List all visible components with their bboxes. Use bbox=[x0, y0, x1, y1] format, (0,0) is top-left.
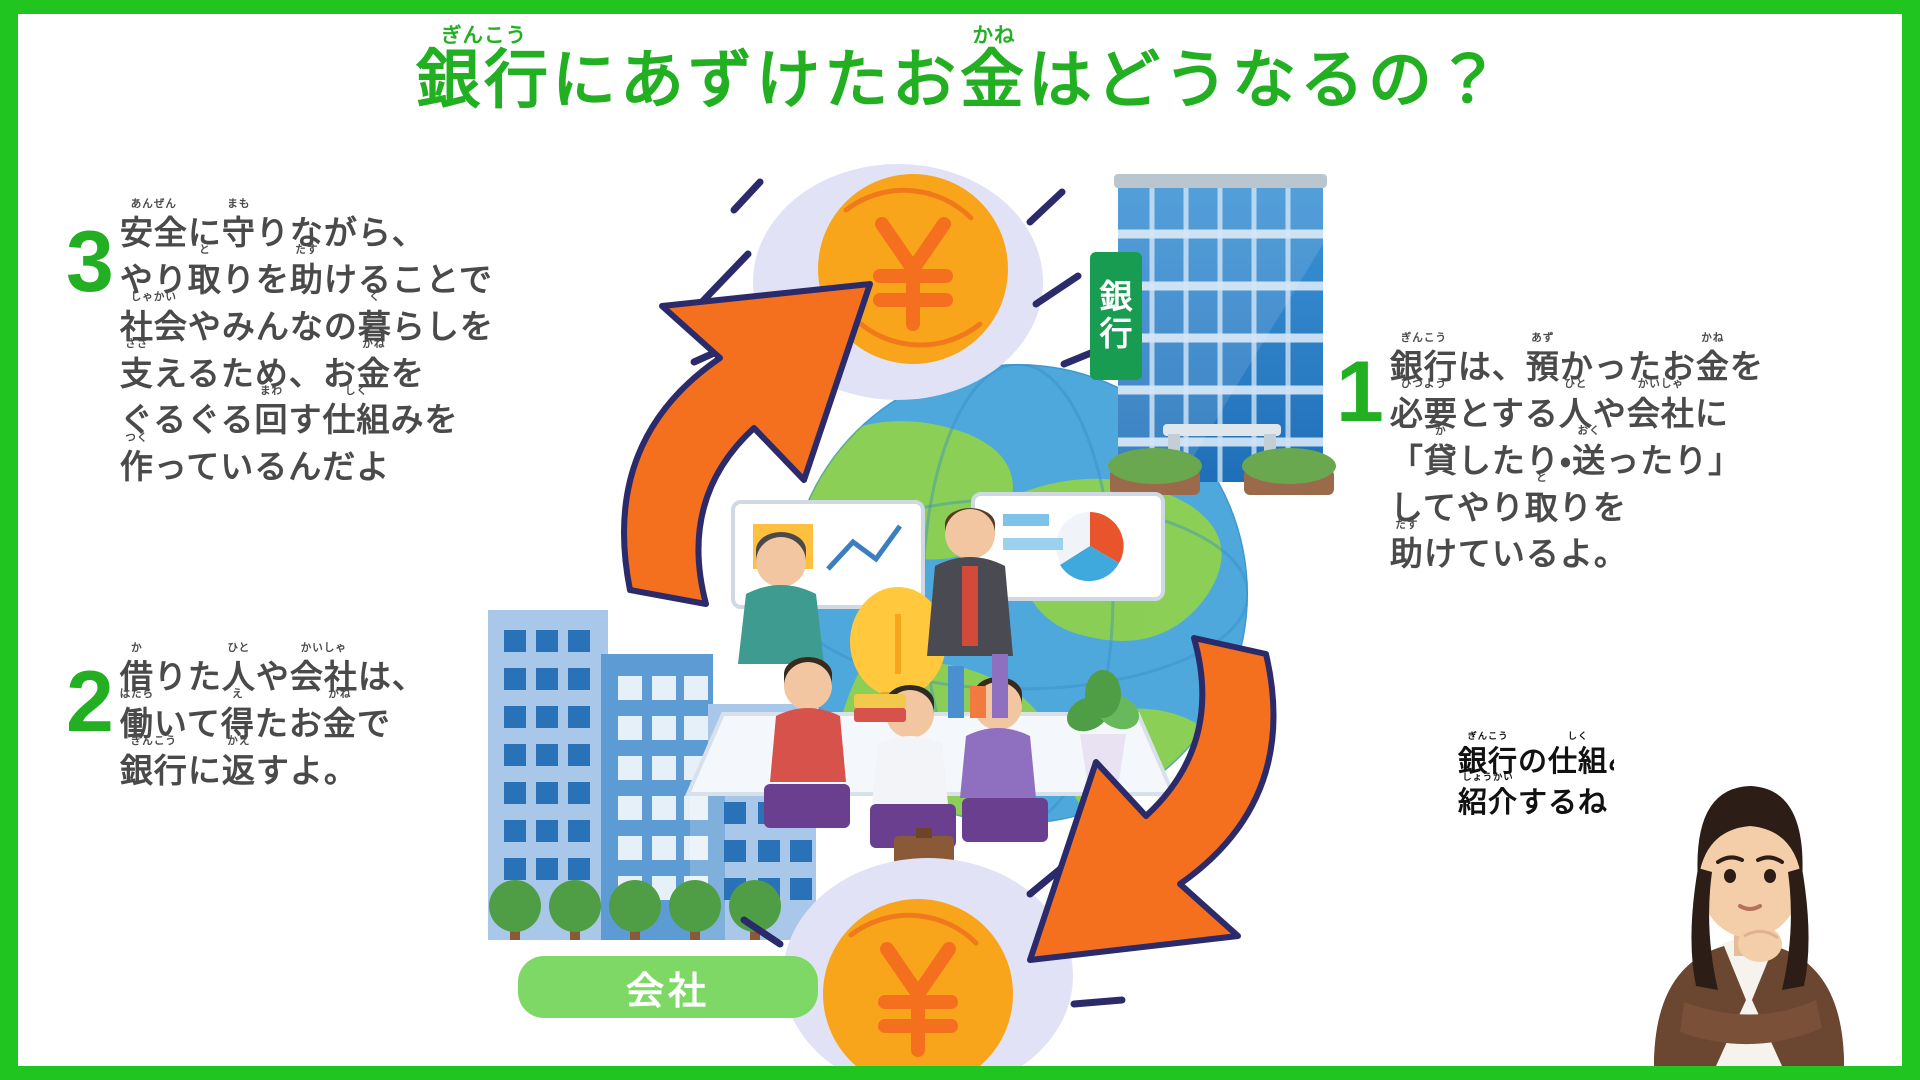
step-block-2: 2 か借りたひと人やかいしゃ会社は、はたら働いてえ得たおかね金でぎんこう銀行にか… bbox=[66, 654, 426, 795]
globe-illustration bbox=[788, 364, 1248, 845]
plain-segment: を bbox=[1730, 344, 1764, 391]
ruby-segment: かね金 bbox=[1696, 344, 1730, 391]
plain-segment: の bbox=[1518, 742, 1548, 783]
furigana: ぎんこう bbox=[1467, 732, 1508, 741]
plain-segment: りた bbox=[154, 654, 222, 701]
furigana: しく bbox=[345, 386, 368, 397]
furigana: かいしゃ bbox=[301, 643, 347, 654]
title-ruby-bank: ぎんこう銀行 bbox=[416, 48, 552, 112]
slide-root: ぎんこう銀行 にあずけたお かね金 はどうなるの？ 3 あんぜん安全にまも守りな… bbox=[0, 0, 1920, 1080]
furigana: あず bbox=[1531, 333, 1554, 344]
ruby-segment: つく作 bbox=[120, 444, 154, 491]
ruby-segment: たす助 bbox=[290, 257, 324, 304]
bank-sign-char-1: 銀 bbox=[1100, 279, 1133, 316]
ruby-segment: たす助 bbox=[1390, 531, 1424, 578]
plain-segment: りながら、 bbox=[256, 210, 426, 257]
furigana: かね bbox=[328, 689, 351, 700]
plain-segment: したり・ bbox=[1458, 438, 1572, 485]
step-text-2: か借りたひと人やかいしゃ会社は、はたら働いてえ得たおかね金でぎんこう銀行にかえ返… bbox=[120, 654, 426, 795]
furigana: ささ bbox=[125, 339, 148, 350]
title-ruby-bank-base: 銀行 bbox=[416, 44, 552, 116]
person-right-standing bbox=[927, 508, 1013, 656]
plain-segment: す bbox=[289, 397, 323, 444]
step-block-1: 1 ぎんこう銀行は、あず預かったおかね金をひつよう必要とするひと人やかいしゃ会社… bbox=[1336, 344, 1764, 578]
plain-segment: えるため、お bbox=[154, 351, 357, 398]
bank-building-illustration bbox=[1108, 174, 1336, 495]
coin-top-illustration bbox=[694, 164, 1108, 400]
title-ruby-bank-reading: ぎんこう bbox=[441, 26, 527, 46]
furigana: か bbox=[131, 643, 143, 654]
plain-segment: で bbox=[357, 701, 391, 748]
plain-segment: っているんだよ bbox=[154, 444, 390, 491]
step-text-3: あんぜん安全にまも守りながら、やりと取りをたす助けることでしゃかい社会やみんなの… bbox=[120, 210, 494, 491]
text-line-4: ささ支えるため、おかね金を bbox=[120, 351, 494, 398]
furigana: しょうかい bbox=[1462, 773, 1513, 782]
ruby-segment: かえ返 bbox=[222, 748, 256, 795]
text-line-3: しゃかい社会やみんなのく暮らしを bbox=[120, 304, 494, 351]
step-number-3: 3 bbox=[66, 224, 114, 301]
company-label-text: 会社 bbox=[626, 960, 710, 1015]
furigana: おく bbox=[1578, 426, 1601, 437]
step-number-2: 2 bbox=[66, 664, 114, 741]
text-line-6: つく作っているんだよ bbox=[120, 444, 494, 491]
furigana: つく bbox=[125, 433, 148, 444]
plain-segment: りを bbox=[222, 257, 290, 304]
ruby-segment: あず預 bbox=[1526, 344, 1560, 391]
lightbulb-icon bbox=[850, 587, 946, 722]
step-number-1: 1 bbox=[1336, 354, 1384, 431]
plain-segment: は、 bbox=[1458, 344, 1526, 391]
furigana: あんぜん bbox=[131, 199, 177, 210]
plain-segment: りを bbox=[1559, 485, 1627, 532]
business-meeting-illustration bbox=[688, 494, 1173, 882]
furigana: まも bbox=[227, 199, 250, 210]
ruby-segment: あんぜん安全 bbox=[120, 210, 188, 257]
furigana: か bbox=[1435, 426, 1447, 437]
furigana: しゃかい bbox=[131, 292, 177, 303]
title-ruby-money-reading: かね bbox=[973, 26, 1016, 46]
ruby-segment: ひつよう必要 bbox=[1390, 391, 1458, 438]
furigana: ぎんこう bbox=[131, 736, 177, 747]
text-line-5: ぐるぐるまわ回すしく仕組みを bbox=[120, 397, 494, 444]
bank-sign-label: 銀 行 bbox=[1090, 252, 1142, 380]
text-line-3: ぎんこう銀行にかえ返すよ。 bbox=[120, 748, 426, 795]
furigana: く bbox=[369, 292, 381, 303]
furigana: え bbox=[232, 689, 244, 700]
title-ruby-money-base: 金 bbox=[960, 44, 1028, 116]
ruby-segment: ぎんこう銀行 bbox=[120, 748, 188, 795]
plain-segment: すよ。 bbox=[256, 748, 358, 795]
plain-segment: に bbox=[188, 748, 222, 795]
plain-segment: を bbox=[391, 351, 425, 398]
trees bbox=[489, 880, 781, 940]
furigana: まわ bbox=[260, 386, 283, 397]
furigana: たす bbox=[1395, 520, 1418, 531]
furigana: かね bbox=[362, 339, 385, 350]
person-seated-red bbox=[764, 657, 850, 828]
plain-segment: とする bbox=[1458, 391, 1559, 438]
text-line-5: たす助けているよ。 bbox=[1390, 531, 1764, 578]
plain-segment: けているよ。 bbox=[1424, 531, 1628, 578]
page-title: ぎんこう銀行 にあずけたお かね金 はどうなるの？ bbox=[18, 48, 1902, 112]
plain-segment: けることで bbox=[324, 257, 493, 304]
furigana: かいしゃ bbox=[1638, 379, 1684, 390]
text-line-1: か借りたひと人やかいしゃ会社は、 bbox=[120, 654, 426, 701]
ruby-segment: まわ回 bbox=[255, 397, 289, 444]
furigana: はたら bbox=[120, 689, 154, 700]
title-ruby-money: かね金 bbox=[960, 48, 1028, 112]
plain-segment: みを bbox=[391, 397, 459, 444]
bank-sign-char-2: 行 bbox=[1100, 316, 1133, 353]
furigana: ひつよう bbox=[1401, 379, 1447, 390]
furigana: ぎんこう bbox=[1401, 333, 1447, 344]
furigana: たす bbox=[295, 245, 318, 256]
title-mid: にあずけたお bbox=[552, 44, 960, 116]
furigana: しく bbox=[1568, 732, 1589, 741]
ruby-segment: かね金 bbox=[323, 701, 357, 748]
ruby-segment: かいしゃ会社 bbox=[1627, 391, 1695, 438]
furigana: と bbox=[199, 245, 211, 256]
plain-segment: たお bbox=[255, 701, 323, 748]
person-seated-white bbox=[870, 685, 956, 848]
title-tail: はどうなるの？ bbox=[1028, 44, 1504, 116]
plain-segment: らしを bbox=[392, 304, 494, 351]
text-line-4: してやりと取りを bbox=[1390, 485, 1764, 532]
plain-segment: やみんなの bbox=[188, 304, 358, 351]
ruby-segment: しく仕組 bbox=[323, 397, 391, 444]
ruby-segment: と取 bbox=[1525, 485, 1559, 532]
presenter-photo bbox=[1614, 736, 1884, 1066]
step-block-3: 3 あんぜん安全にまも守りながら、やりと取りをたす助けることでしゃかい社会やみん… bbox=[66, 210, 494, 491]
briefcase-icon bbox=[894, 836, 954, 882]
furigana: と bbox=[1536, 473, 1548, 484]
text-line-3: 「か貸したり・おく送ったり」 bbox=[1390, 438, 1764, 485]
ruby-segment: しく仕組 bbox=[1548, 742, 1608, 783]
person-seated-purple bbox=[960, 677, 1048, 842]
furigana: ひと bbox=[1564, 379, 1587, 390]
ruby-segment: か貸 bbox=[1424, 438, 1458, 485]
ruby-segment: まも守 bbox=[222, 210, 256, 257]
slide-canvas: ぎんこう銀行 にあずけたお かね金 はどうなるの？ 3 あんぜん安全にまも守りな… bbox=[18, 14, 1902, 1066]
furigana: かね bbox=[1701, 333, 1724, 344]
ruby-segment: と取 bbox=[188, 257, 222, 304]
furigana: かえ bbox=[227, 736, 250, 747]
furigana: ひと bbox=[227, 643, 250, 654]
company-buildings-illustration bbox=[488, 610, 816, 940]
person-left bbox=[738, 532, 824, 664]
plain-segment: は、 bbox=[358, 654, 426, 701]
plain-segment: 「 bbox=[1390, 438, 1424, 485]
ruby-segment: ささ支 bbox=[120, 351, 154, 398]
plain-segment: ったり」 bbox=[1606, 438, 1742, 485]
step-text-1: ぎんこう銀行は、あず預かったおかね金をひつよう必要とするひと人やかいしゃ会社に「… bbox=[1390, 344, 1764, 578]
arrow-down-right bbox=[1030, 638, 1274, 960]
plain-segment: に bbox=[1695, 391, 1729, 438]
ruby-segment: おく送 bbox=[1572, 438, 1606, 485]
ruby-segment: しょうかい紹介 bbox=[1458, 783, 1518, 824]
potted-plant bbox=[1061, 670, 1144, 780]
arrow-up-left bbox=[624, 284, 870, 604]
plain-segment: や bbox=[256, 654, 290, 701]
company-label: 会社 bbox=[518, 956, 818, 1018]
